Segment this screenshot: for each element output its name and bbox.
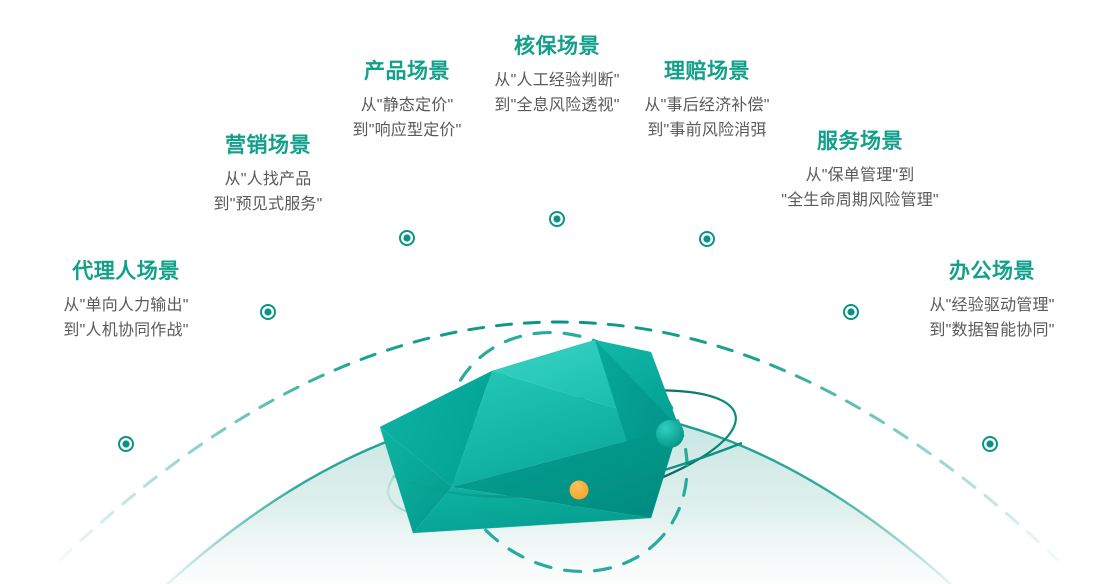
scenario-description-line: 从"单向人力输出" [63, 293, 188, 318]
scenario-description: 从"人工经验判断"到"全息风险透视" [494, 68, 619, 118]
scenario-description: 从"经验驱动管理"到"数据智能协同" [929, 293, 1054, 343]
node-center-dot-icon [986, 440, 993, 447]
scenario-description-line: 到"响应型定价" [353, 118, 462, 143]
scenario-description-line: 到"数据智能协同" [929, 318, 1054, 343]
scenario-description-line: 到"预见式服务" [214, 192, 323, 217]
scenario-description-line: 从"经验驱动管理" [929, 293, 1054, 318]
scenario-title: 核保场景 [494, 33, 619, 61]
scenario-description: 从"保单管理"到"全生命周期风险管理" [781, 163, 939, 213]
scenario-node-underwriting[interactable] [550, 148, 564, 226]
node-center-dot-icon [264, 308, 271, 315]
scenario-node-product[interactable] [400, 168, 414, 245]
scenario-label-service: 服务场景从"保单管理"到"全生命周期风险管理" [781, 128, 939, 213]
scenario-node-office[interactable] [983, 370, 997, 451]
scenario-node-service[interactable] [844, 243, 858, 319]
scenario-description-line: 到"人机协同作战" [63, 318, 188, 343]
scenario-description-line: 从"人工经验判断" [494, 68, 619, 93]
node-center-dot-icon [847, 308, 854, 315]
orbit-sphere [656, 420, 684, 448]
scenario-title: 办公场景 [929, 258, 1054, 286]
scenario-description-line: 从"人找产品 [214, 167, 323, 192]
scenario-title: 产品场景 [353, 58, 462, 86]
scenario-description: 从"单向人力输出"到"人机协同作战" [63, 293, 188, 343]
scenario-description-line: "全生命周期风险管理" [781, 188, 939, 213]
scenario-label-office: 办公场景从"经验驱动管理"到"数据智能协同" [929, 258, 1054, 343]
polyhedron-body [380, 340, 679, 533]
scenario-title: 服务场景 [781, 128, 939, 156]
scenario-label-agent: 代理人场景从"单向人力输出"到"人机协同作战" [63, 258, 188, 343]
scenario-label-marketing: 营销场景从"人找产品到"预见式服务" [214, 132, 323, 217]
scenario-title: 营销场景 [214, 132, 323, 160]
node-center-dot-icon [403, 234, 410, 241]
node-center-dot-icon [122, 440, 129, 447]
scenario-label-underwriting: 核保场景从"人工经验判断"到"全息风险透视" [494, 33, 619, 118]
scenario-description-line: 到"全息风险透视" [494, 93, 619, 118]
scenario-node-agent[interactable] [119, 370, 133, 451]
scenario-title: 理赔场景 [644, 58, 769, 86]
scenario-description-line: 从"静态定价" [353, 93, 462, 118]
scenario-label-claims: 理赔场景从"事后经济补偿"到"事前风险消弭 [644, 58, 769, 143]
infographic-stage: 代理人场景从"单向人力输出"到"人机协同作战"营销场景从"人找产品到"预见式服务… [0, 0, 1118, 584]
scenario-description-line: 从"保单管理"到 [781, 163, 939, 188]
scenario-description: 从"事后经济补偿"到"事前风险消弭 [644, 93, 769, 143]
node-center-dot-icon [553, 215, 560, 222]
scenario-node-claims[interactable] [700, 168, 714, 246]
scenario-label-product: 产品场景从"静态定价"到"响应型定价" [353, 58, 462, 143]
scenario-description: 从"静态定价"到"响应型定价" [353, 93, 462, 143]
scenario-description: 从"人找产品到"预见式服务" [214, 167, 323, 217]
scenario-node-marketing[interactable] [261, 243, 275, 319]
scenario-title: 代理人场景 [63, 258, 188, 286]
orange-accent-dot [570, 481, 589, 500]
scenario-description-line: 到"事前风险消弭 [644, 118, 769, 143]
node-center-dot-icon [703, 235, 710, 242]
scenario-description-line: 从"事后经济补偿" [644, 93, 769, 118]
